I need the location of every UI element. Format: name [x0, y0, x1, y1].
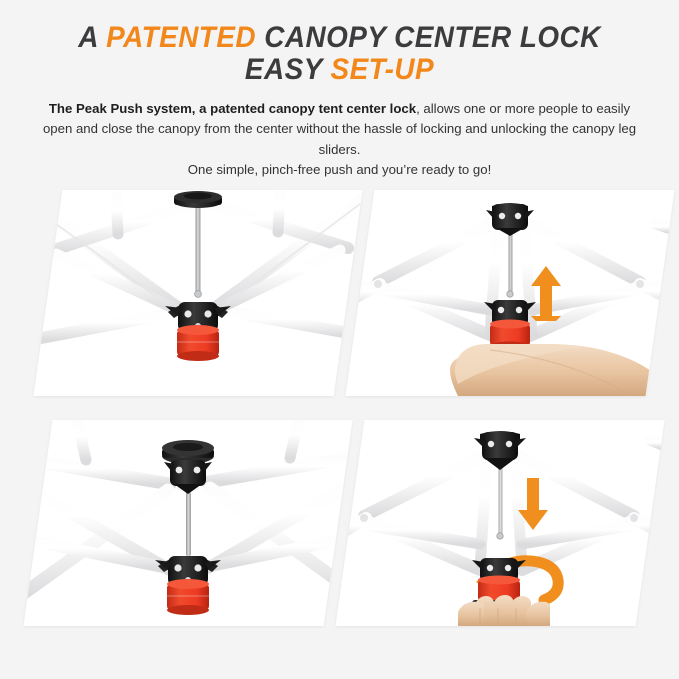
center-lock-hub [472, 558, 526, 602]
description-paragraph: The Peak Push system, a patented canopy … [34, 99, 645, 181]
infographic-page: A PATENTED CANOPY CENTER LOCK EASY SET-U… [0, 0, 679, 679]
panel-collapsed-no-hand [34, 190, 363, 396]
headline-line-2: EASY SET-UP [24, 54, 655, 86]
headline-text-canopy-center-lock: CANOPY CENTER LOCK [256, 21, 601, 54]
peak-cap-top [174, 191, 222, 208]
headline-line-1: A PATENTED CANOPY CENTER LOCK [24, 22, 655, 54]
canopy-pull-down-illustration [336, 420, 665, 626]
headline-block: A PATENTED CANOPY CENTER LOCK EASY SET-U… [0, 0, 679, 87]
headline-highlight-setup: SET-UP [330, 53, 434, 86]
canopy-frame-collapsed-illustration [34, 190, 363, 396]
panel-open-locked [24, 420, 353, 626]
canopy-push-up-illustration [346, 190, 675, 396]
description-closing-line: One simple, pinch-free push and you’re r… [34, 160, 645, 180]
center-lock-hub [484, 300, 536, 351]
headline-text-easy: EASY [245, 53, 331, 86]
canopy-open-locked-illustration [24, 420, 353, 626]
headline-highlight-patented: PATENTED [106, 21, 256, 54]
description-bold-lead: The Peak Push system, a patented canopy … [49, 101, 416, 116]
headline-text-a: A [78, 21, 106, 54]
panel-grid [0, 186, 679, 638]
panel-pull-down [336, 420, 665, 626]
panel-push-up [346, 190, 675, 396]
